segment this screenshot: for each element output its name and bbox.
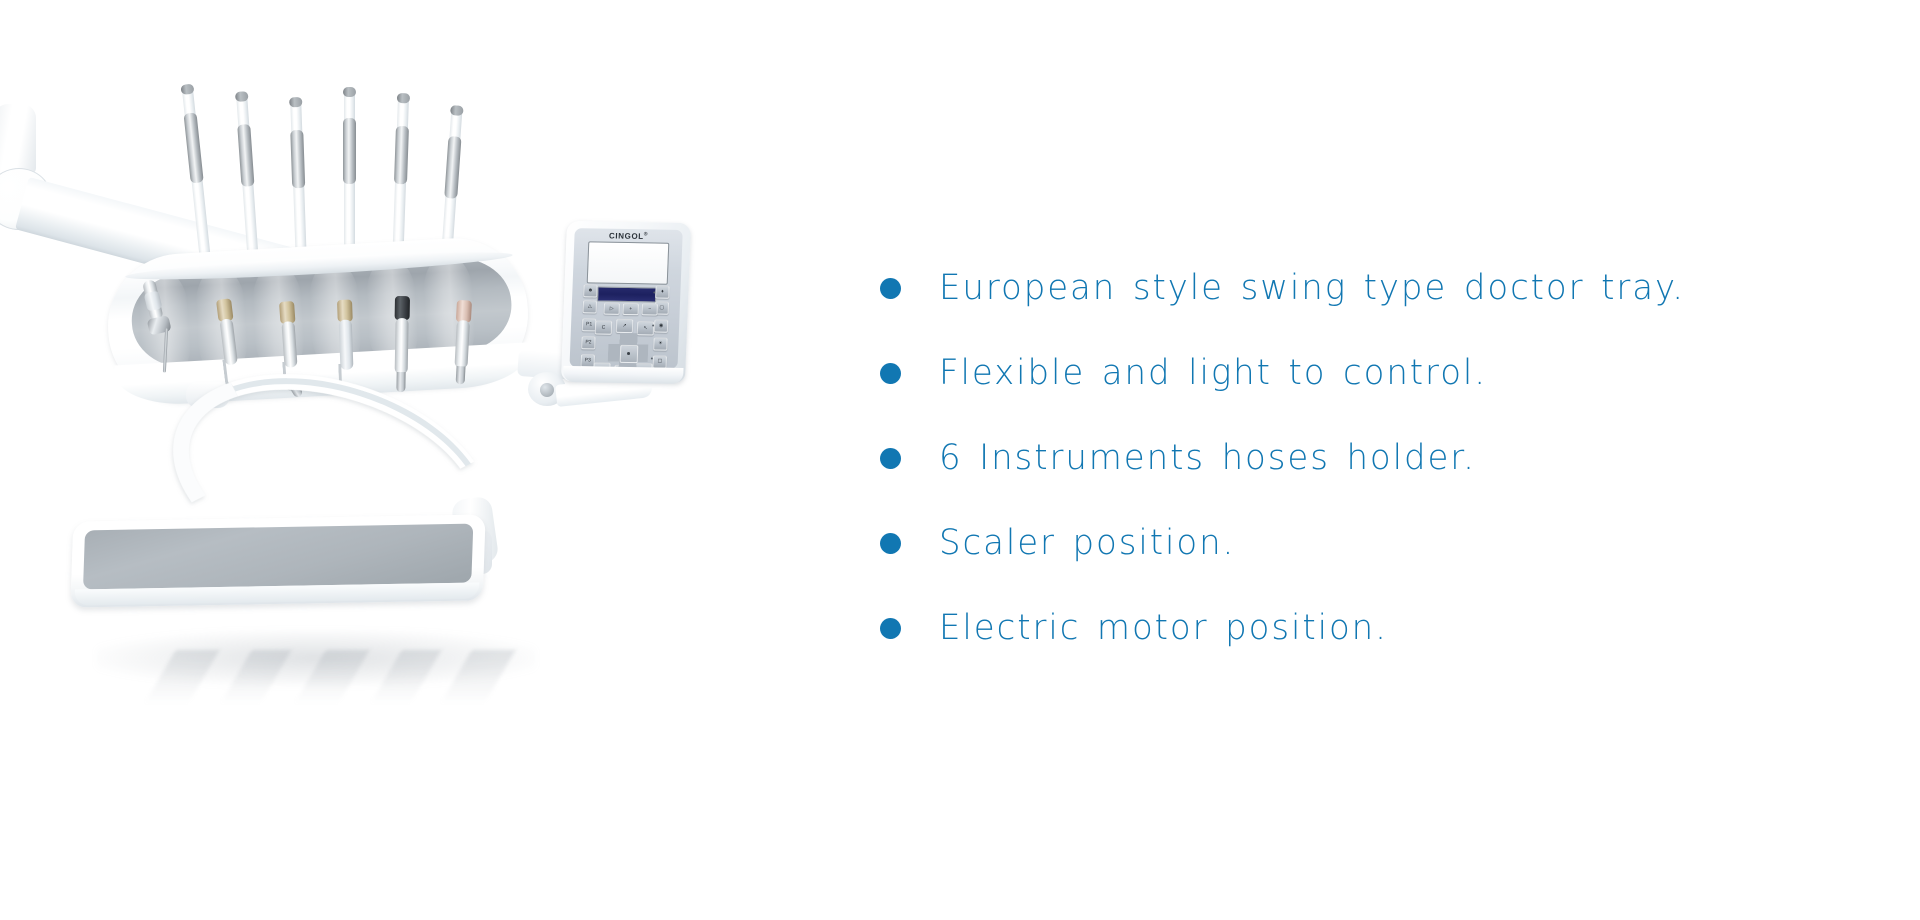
list-item: Scaler position.	[880, 501, 1860, 586]
panel-key-chair-up[interactable]: ↗	[616, 319, 634, 333]
panel-key-water-icon[interactable]: ♦	[655, 286, 669, 299]
panel-brand-label: CINGOL®	[574, 230, 682, 242]
panel-key-p2[interactable]: P2	[581, 336, 596, 349]
cingol-control-panel[interactable]: CINGOL® ☻ △ P1 P2 P3 ♦ ▢ ◉ ☀ ☐	[561, 221, 691, 383]
list-item: 6 Instruments hoses holder.	[880, 416, 1860, 501]
ceiling-mount-stub	[0, 104, 36, 174]
panel-key-play[interactable]: ▷	[603, 303, 619, 315]
list-item: Electric motor position.	[880, 586, 1860, 671]
bullet-icon	[880, 618, 901, 639]
panel-dpad-center-button[interactable]	[620, 345, 639, 363]
bullet-icon	[880, 363, 901, 384]
feature-list: European style swing type doctor tray. F…	[880, 246, 1860, 671]
panel-key-chair-icon[interactable]: △	[583, 300, 598, 313]
panel-key-plus[interactable]: +	[623, 303, 639, 315]
feature-text: 6 Instruments hoses holder.	[939, 441, 1476, 476]
panel-key-light-icon[interactable]: ☀	[653, 337, 668, 350]
feature-text: Flexible and light to control.	[939, 356, 1487, 391]
feature-text: European style swing type doctor tray.	[939, 271, 1685, 306]
bullet-icon	[880, 533, 901, 554]
feature-text: Scaler position.	[939, 526, 1235, 561]
control-panel-hinge-cap	[540, 383, 554, 397]
instrument-shelf-tray	[70, 514, 485, 607]
panel-display-screen	[587, 241, 670, 284]
feature-text: Electric motor position.	[939, 611, 1388, 646]
panel-key-minus[interactable]: −	[642, 303, 658, 315]
product-feature-slide: CINGOL® ☻ △ P1 P2 P3 ♦ ▢ ◉ ☀ ☐	[0, 0, 1920, 920]
bullet-icon	[880, 278, 901, 299]
panel-lcd-readout	[597, 287, 657, 303]
list-item: European style swing type doctor tray.	[880, 246, 1860, 331]
panel-key-bowl-icon[interactable]: ◉	[654, 319, 669, 332]
bullet-icon	[880, 448, 901, 469]
list-item: Flexible and light to control.	[880, 331, 1860, 416]
panel-indicator-dot-2	[652, 324, 654, 326]
dental-unit-product-image: CINGOL® ☻ △ P1 P2 P3 ♦ ▢ ◉ ☀ ☐	[0, 0, 880, 920]
panel-key-user-icon[interactable]: ☻	[583, 284, 597, 297]
